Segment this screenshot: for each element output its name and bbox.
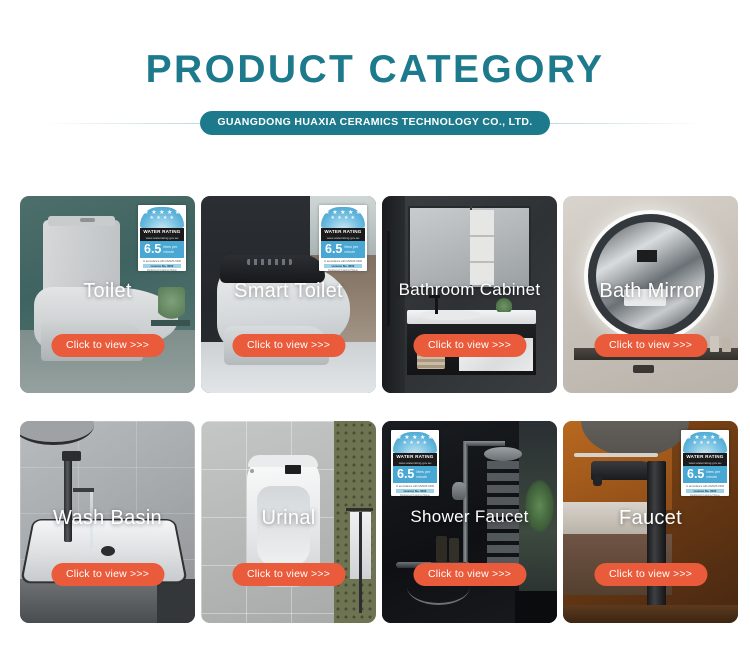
badge-value: 6.5 xyxy=(397,468,414,481)
click-to-view-button[interactable]: Click to view >>> xyxy=(51,334,164,357)
badge-title: WATER RATING xyxy=(140,228,184,236)
badge-licence: Licence No. 0002 xyxy=(396,489,434,493)
page-title: PRODUCT CATEGORY xyxy=(0,50,750,89)
category-card-faucet[interactable]: ★ ★ ★ ★ ★ ★ ★ ★ ★ WATER RATING www.water… xyxy=(563,421,738,623)
category-card-urinal[interactable]: Urinal Click to view >>> xyxy=(201,421,376,623)
badge-standard: In accordance with AS/NZS 6400 xyxy=(393,485,437,488)
subtitle-row: GUANGDONG HUAXIA CERAMICS TECHNOLOGY CO.… xyxy=(0,110,750,136)
category-label: Bathroom Cabinet xyxy=(382,280,557,300)
badge-footer-line1: Registered Customer Name xyxy=(140,269,184,271)
category-label: Toilet xyxy=(20,280,195,303)
category-card-smart-toilet[interactable]: ★ ★ ★ ★ ★ ★ ★ ★ ★ WATER RATING www.water… xyxy=(201,196,376,393)
category-card-bathroom-cabinet[interactable]: Bathroom Cabinet Click to view >>> xyxy=(382,196,557,393)
badge-standard: In accordance with AS/NZS 6400 xyxy=(683,485,727,488)
badge-stars-secondary: ★ ★ ★ ★ xyxy=(683,441,727,446)
click-to-view-button[interactable]: Click to view >>> xyxy=(232,563,345,586)
click-to-view-button[interactable]: Click to view >>> xyxy=(51,563,164,586)
badge-value: 6.5 xyxy=(144,243,161,256)
section-header: PRODUCT CATEGORY GUANGDONG HUAXIA CERAMI… xyxy=(0,0,750,136)
click-to-view-button[interactable]: Click to view >>> xyxy=(594,563,707,586)
category-label: Faucet xyxy=(563,507,738,530)
badge-stars-secondary: ★ ★ ★ ★ xyxy=(140,216,184,221)
company-name-badge: GUANGDONG HUAXIA CERAMICS TECHNOLOGY CO.… xyxy=(200,111,549,134)
category-card-wash-basin[interactable]: Wash Basin Click to view >>> xyxy=(20,421,195,623)
badge-stars-secondary: ★ ★ ★ ★ xyxy=(321,216,365,221)
badge-unit-line2: minute xyxy=(344,250,355,254)
badge-stars-secondary: ★ ★ ★ ★ xyxy=(393,441,437,446)
category-grid: ★ ★ ★ ★ ★ ★ ★ ★ ★ WATER RATING www.water… xyxy=(20,196,730,623)
badge-licence: Licence No. 0002 xyxy=(686,489,724,493)
badge-title: WATER RATING xyxy=(393,453,437,461)
category-card-shower-faucet[interactable]: ★ ★ ★ ★ ★ ★ ★ ★ ★ WATER RATING www.water… xyxy=(382,421,557,623)
badge-unit-line2: minute xyxy=(416,475,427,479)
click-to-view-button[interactable]: Click to view >>> xyxy=(413,334,526,357)
water-rating-badge: ★ ★ ★ ★ ★ ★ ★ ★ ★ WATER RATING www.water… xyxy=(391,430,439,496)
category-label: Wash Basin xyxy=(20,507,195,530)
badge-standard: In accordance with AS/NZS 6400 xyxy=(321,260,365,263)
badge-title: WATER RATING xyxy=(321,228,365,236)
badge-footer-line1: Registered Customer Name xyxy=(393,494,437,496)
badge-title: WATER RATING xyxy=(683,453,727,461)
click-to-view-button[interactable]: Click to view >>> xyxy=(594,334,707,357)
category-label: Bath Mirror xyxy=(563,280,738,303)
badge-licence: Licence No. 0002 xyxy=(324,264,362,268)
category-label: Urinal xyxy=(201,507,376,530)
click-to-view-button[interactable]: Click to view >>> xyxy=(232,334,345,357)
badge-value: 6.5 xyxy=(687,468,704,481)
water-rating-badge: ★ ★ ★ ★ ★ ★ ★ ★ ★ WATER RATING www.water… xyxy=(681,430,729,496)
product-category-section: PRODUCT CATEGORY GUANGDONG HUAXIA CERAMI… xyxy=(0,0,750,651)
badge-licence: Licence No. 0002 xyxy=(143,264,181,268)
badge-value: 6.5 xyxy=(325,243,342,256)
badge-footer-line1: Registered Customer Name xyxy=(321,269,365,271)
badge-standard: In accordance with AS/NZS 6400 xyxy=(140,260,184,263)
water-rating-badge: ★ ★ ★ ★ ★ ★ ★ ★ ★ WATER RATING www.water… xyxy=(138,205,186,271)
badge-unit-line2: minute xyxy=(163,250,174,254)
category-card-toilet[interactable]: ★ ★ ★ ★ ★ ★ ★ ★ ★ WATER RATING www.water… xyxy=(20,196,195,393)
category-card-bath-mirror[interactable]: Bath Mirror Click to view >>> xyxy=(563,196,738,393)
category-label: Shower Faucet xyxy=(382,507,557,527)
badge-footer-line1: Registered Customer Name xyxy=(683,494,727,496)
water-rating-badge: ★ ★ ★ ★ ★ ★ ★ ★ ★ WATER RATING www.water… xyxy=(319,205,367,271)
badge-unit-line2: minute xyxy=(706,475,717,479)
category-label: Smart Toilet xyxy=(201,280,376,303)
click-to-view-button[interactable]: Click to view >>> xyxy=(413,563,526,586)
